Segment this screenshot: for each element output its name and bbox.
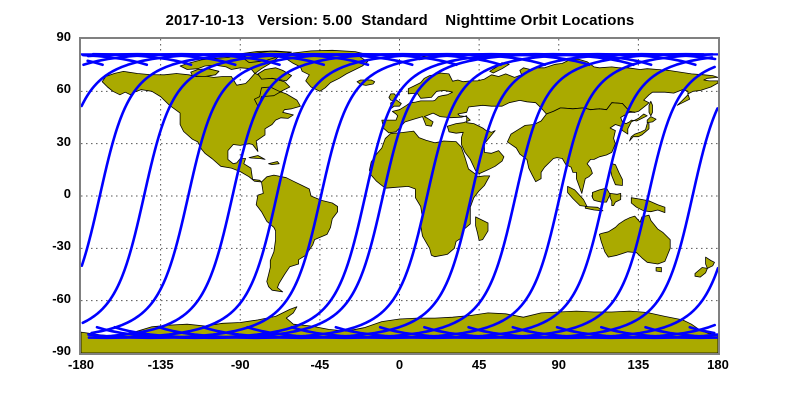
y-tick-label: 90 bbox=[11, 29, 71, 44]
land-tasmania bbox=[656, 268, 661, 272]
y-tick-label: 30 bbox=[11, 134, 71, 149]
land-hispaniola bbox=[269, 162, 280, 165]
orbit-map-figure: 2017-10-13 Version: 5.00 Standard Nightt… bbox=[0, 0, 800, 400]
land-japan bbox=[630, 124, 650, 141]
map-clip bbox=[81, 39, 718, 353]
land-new-zealand-s bbox=[695, 268, 707, 278]
land-sulawesi bbox=[610, 193, 621, 205]
y-tick-label: 0 bbox=[11, 186, 71, 201]
x-tick-label: 45 bbox=[444, 357, 514, 372]
x-tick-label: 0 bbox=[365, 357, 435, 372]
y-axis-tick-labels: 9060300-30-60-90 bbox=[9, 37, 71, 355]
x-tick-label: 135 bbox=[603, 357, 673, 372]
figure-title: 2017-10-13 Version: 5.00 Standard Nightt… bbox=[0, 12, 800, 29]
x-tick-label: -135 bbox=[126, 357, 196, 372]
y-tick-label: -90 bbox=[11, 343, 71, 358]
land-antarctica bbox=[81, 307, 718, 353]
land-sumatra bbox=[568, 186, 588, 206]
x-tick-label: 90 bbox=[524, 357, 594, 372]
land-cuba bbox=[249, 156, 265, 160]
land-sakhalin bbox=[649, 101, 653, 116]
x-tick-label: 180 bbox=[683, 357, 753, 372]
x-tick-label: -90 bbox=[205, 357, 275, 372]
land-hokkaido bbox=[647, 117, 656, 123]
x-tick-label: -180 bbox=[46, 357, 116, 372]
land-australia bbox=[599, 215, 670, 264]
y-tick-label: -60 bbox=[11, 291, 71, 306]
world-map-svg bbox=[81, 39, 718, 353]
y-tick-label: 60 bbox=[11, 81, 71, 96]
land-madagascar bbox=[476, 217, 488, 241]
land-borneo bbox=[592, 188, 610, 202]
land-new-zealand-n bbox=[706, 257, 715, 268]
y-tick-label: -30 bbox=[11, 238, 71, 253]
x-axis-tick-labels: -180-135-90-4504590135180 bbox=[79, 357, 720, 379]
map-plot-area bbox=[79, 37, 720, 355]
x-tick-label: -45 bbox=[285, 357, 355, 372]
